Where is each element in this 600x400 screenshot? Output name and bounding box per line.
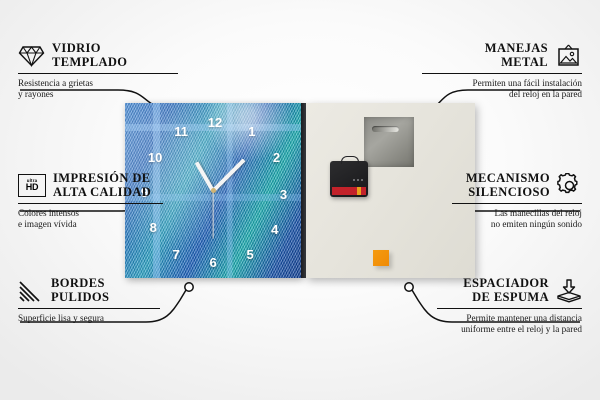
callout-title-line1: IMPRESIÓN DE — [53, 171, 151, 185]
product-photo: 12 1 2 3 4 5 6 7 8 9 10 11 — [125, 103, 475, 278]
clock-numeral-12: 12 — [208, 115, 222, 130]
callout-espaciador-espuma: ESPACIADOR DE ESPUMA Permite mantener un… — [437, 277, 582, 335]
callout-title-line2: ALTA CALIDAD — [53, 185, 151, 199]
clock-numeral-5: 5 — [246, 247, 253, 262]
gear-icon — [557, 173, 582, 198]
callout-title-line2: PULIDOS — [51, 290, 109, 304]
callout-rule — [18, 308, 160, 309]
foam-spacer — [373, 250, 389, 266]
clock-mechanism-box — [330, 161, 368, 197]
clock-center-pin — [211, 188, 216, 193]
callout-desc-line2: uniforme entre el reloj y la pared — [461, 324, 582, 334]
clock-numeral-11: 11 — [174, 124, 188, 139]
callout-title-line1: BORDES — [51, 276, 105, 290]
clock-numeral-3: 3 — [280, 187, 287, 202]
callout-manejas-metal: MANEJAS METAL Permiten una fácil instala… — [422, 42, 582, 100]
callout-title-line2: DE ESPUMA — [472, 290, 549, 304]
callout-desc-line2: del reloj en la pared — [509, 89, 582, 99]
callout-bordes-pulidos: BORDES PULIDOS Superficie lisa y segura — [18, 277, 160, 324]
callout-desc-line1: Permiten una fácil instalación — [473, 78, 582, 88]
callout-desc-line1: Las manecillas del reloj — [494, 208, 582, 218]
callout-desc-line2: y rayones — [18, 89, 53, 99]
ultra-hd-icon: ultra HD — [18, 174, 46, 197]
clock-numeral-1: 1 — [248, 124, 255, 139]
metal-hanger-plate — [364, 117, 414, 167]
clock-minute-hand — [212, 158, 246, 192]
leader-dot-bordes — [185, 283, 193, 291]
infographic-canvas: 12 1 2 3 4 5 6 7 8 9 10 11 — [0, 0, 600, 400]
callout-desc-line1: Permite mantener una distancia — [466, 313, 582, 323]
clock-numeral-7: 7 — [173, 247, 180, 262]
polished-edges-icon — [18, 280, 44, 302]
clock-second-hand — [212, 191, 213, 239]
callout-title-line1: ESPACIADOR — [463, 276, 549, 290]
callout-title-line1: MECANISMO — [466, 171, 550, 185]
mechanism-red-label — [332, 187, 366, 195]
diamond-icon — [18, 45, 45, 67]
clock-numeral-10: 10 — [148, 150, 162, 165]
foam-spacer-icon — [556, 279, 582, 303]
clock-hour-hand — [195, 161, 215, 192]
callout-rule — [437, 308, 582, 309]
callout-title-line2: METAL — [501, 55, 548, 69]
callout-rule — [452, 203, 582, 204]
hanger-keyhole-slot — [372, 126, 399, 132]
callout-mecanismo-silencioso: MECANISMO SILENCIOSO Las manecillas del … — [452, 172, 582, 230]
clock-numeral-2: 2 — [273, 150, 280, 165]
callout-title-line1: MANEJAS — [485, 41, 548, 55]
callout-desc-line1: Superficie lisa y segura — [18, 313, 104, 323]
leader-dot-espaciador — [405, 283, 413, 291]
mechanism-vents — [353, 179, 365, 181]
callout-desc-line2: no emiten ningún sonido — [491, 219, 582, 229]
callout-impresion-alta-calidad: ultra HD IMPRESIÓN DE ALTA CALIDAD Color… — [18, 172, 163, 230]
callout-vidrio-templado: VIDRIO TEMPLADO Resistencia a grietas y … — [18, 42, 178, 100]
clock-back-panel — [306, 103, 475, 278]
clock-numeral-6: 6 — [209, 255, 216, 270]
callout-rule — [18, 73, 178, 74]
callout-desc-line2: e imagen vívida — [18, 219, 77, 229]
ultra-hd-icon-bottom-text: HD — [26, 183, 39, 192]
callout-title-line2: SILENCIOSO — [468, 185, 550, 199]
callout-title-line1: VIDRIO — [52, 41, 101, 55]
callout-desc-line1: Colores intensos — [18, 208, 79, 218]
callout-title-line2: TEMPLADO — [52, 55, 127, 69]
callout-rule — [18, 203, 163, 204]
callout-desc-line1: Resistencia a grietas — [18, 78, 93, 88]
mechanism-hanging-loop — [341, 156, 359, 164]
picture-frame-icon — [555, 44, 582, 67]
clock-numeral-4: 4 — [271, 222, 278, 237]
callout-rule — [422, 73, 582, 74]
